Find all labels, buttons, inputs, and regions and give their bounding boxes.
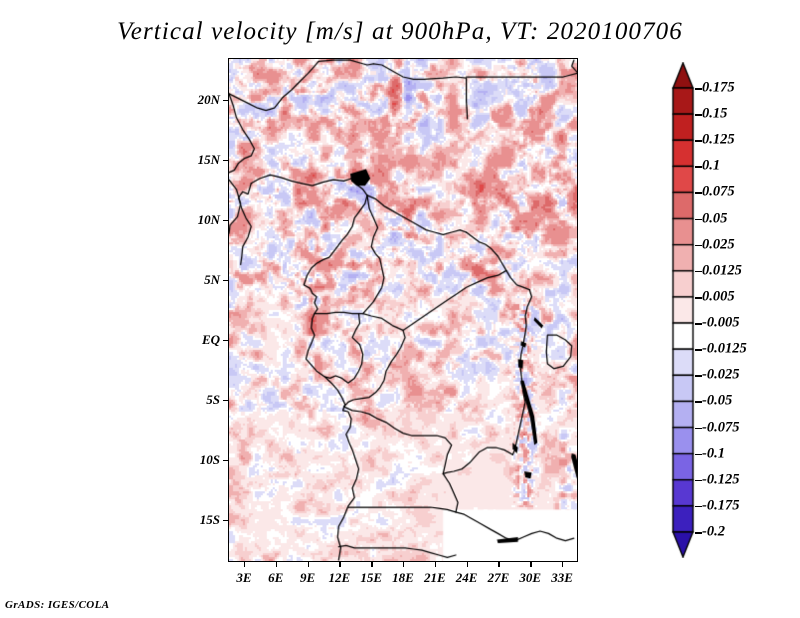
x-axis-tick bbox=[403, 562, 404, 567]
x-axis-tick bbox=[498, 562, 499, 567]
colorbar-tick bbox=[695, 349, 702, 351]
colorbar-tick-label: -0.125 bbox=[702, 471, 739, 488]
x-axis-tick bbox=[244, 562, 245, 567]
x-axis-label: 24E bbox=[456, 570, 478, 586]
colorbar-tick-label: 0.005 bbox=[702, 288, 735, 305]
colorbar-tick bbox=[695, 375, 702, 377]
x-axis-label: 33E bbox=[551, 570, 573, 586]
y-axis-tick bbox=[223, 460, 228, 461]
y-axis-label: 5S bbox=[178, 392, 220, 408]
x-axis-label: 27E bbox=[488, 570, 510, 586]
colorbar-tick bbox=[695, 219, 702, 221]
colorbar-tick-label: 0.1 bbox=[702, 158, 720, 175]
colorbar-tick bbox=[695, 114, 702, 116]
colorbar-tick bbox=[695, 532, 702, 534]
y-axis-tick bbox=[223, 340, 228, 341]
colorbar-tick-label: -0.175 bbox=[702, 497, 739, 514]
y-axis-tick bbox=[223, 280, 228, 281]
colorbar-tick bbox=[695, 245, 702, 247]
colorbar-tick-label: 0.175 bbox=[702, 80, 735, 97]
x-axis-tick bbox=[276, 562, 277, 567]
colorbar-tick-label: 0.05 bbox=[702, 210, 727, 227]
colorbar-tick bbox=[695, 401, 702, 403]
colorbar-tick bbox=[695, 480, 702, 482]
y-axis-tick bbox=[223, 400, 228, 401]
colorbar bbox=[671, 62, 695, 558]
colorbar-tick-label: 0.0125 bbox=[702, 262, 742, 279]
colorbar-tick-label: 0.025 bbox=[702, 236, 735, 253]
x-axis-tick bbox=[371, 562, 372, 567]
y-axis-label: EQ bbox=[178, 332, 220, 348]
colorbar-tick bbox=[695, 88, 702, 90]
x-axis-label: 3E bbox=[236, 570, 251, 586]
colorbar-tick bbox=[695, 323, 702, 325]
x-axis-tick bbox=[339, 562, 340, 567]
page-title: Vertical velocity [m/s] at 900hPa, VT: 2… bbox=[0, 18, 800, 46]
map-plot-area bbox=[228, 58, 578, 562]
colorbar-tick bbox=[695, 428, 702, 430]
colorbar-tick-label: -0.075 bbox=[702, 419, 739, 436]
footer-credit: GrADS: IGES/COLA bbox=[5, 599, 110, 611]
colorbar-tick-label: 0.15 bbox=[702, 106, 727, 123]
x-axis-tick bbox=[530, 562, 531, 567]
colorbar-tick bbox=[695, 166, 702, 168]
y-axis-tick bbox=[223, 160, 228, 161]
colorbar-tick-label: 0.075 bbox=[702, 184, 735, 201]
colorbar-tick-label: -0.2 bbox=[702, 524, 725, 541]
colorbar-gradient bbox=[671, 62, 695, 558]
y-axis-label: 15N bbox=[178, 152, 220, 168]
colorbar-tick bbox=[695, 297, 702, 299]
x-axis-label: 12E bbox=[329, 570, 351, 586]
x-axis-label: 15E bbox=[360, 570, 382, 586]
x-axis-label: 30E bbox=[519, 570, 541, 586]
x-axis-label: 6E bbox=[268, 570, 283, 586]
x-axis-label: 9E bbox=[300, 570, 315, 586]
y-axis-label: 10N bbox=[178, 212, 220, 228]
colorbar-tick bbox=[695, 192, 702, 194]
x-axis-tick bbox=[562, 562, 563, 567]
colorbar-tick-label: -0.0125 bbox=[702, 341, 747, 358]
colorbar-tick bbox=[695, 140, 702, 142]
y-axis-tick bbox=[223, 100, 228, 101]
x-axis-label: 18E bbox=[392, 570, 414, 586]
colorbar-tick bbox=[695, 506, 702, 508]
y-axis-tick bbox=[223, 220, 228, 221]
x-axis-label: 21E bbox=[424, 570, 446, 586]
colorbar-tick bbox=[695, 271, 702, 273]
y-axis-label: 15S bbox=[178, 512, 220, 528]
colorbar-tick bbox=[695, 454, 702, 456]
x-axis-tick bbox=[308, 562, 309, 567]
colorbar-tick-label: -0.025 bbox=[702, 367, 739, 384]
y-axis-label: 20N bbox=[178, 92, 220, 108]
x-axis-tick bbox=[435, 562, 436, 567]
grads-plot-page: Vertical velocity [m/s] at 900hPa, VT: 2… bbox=[0, 0, 800, 618]
country-borders-overlay bbox=[229, 59, 577, 561]
colorbar-tick-label: -0.1 bbox=[702, 445, 725, 462]
x-axis-tick bbox=[467, 562, 468, 567]
colorbar-tick-label: -0.05 bbox=[702, 393, 732, 410]
y-axis-label: 10S bbox=[178, 452, 220, 468]
y-axis-label: 5N bbox=[178, 272, 220, 288]
y-axis-tick bbox=[223, 520, 228, 521]
colorbar-tick-label: -0.005 bbox=[702, 315, 739, 332]
colorbar-tick-label: 0.125 bbox=[702, 132, 735, 149]
